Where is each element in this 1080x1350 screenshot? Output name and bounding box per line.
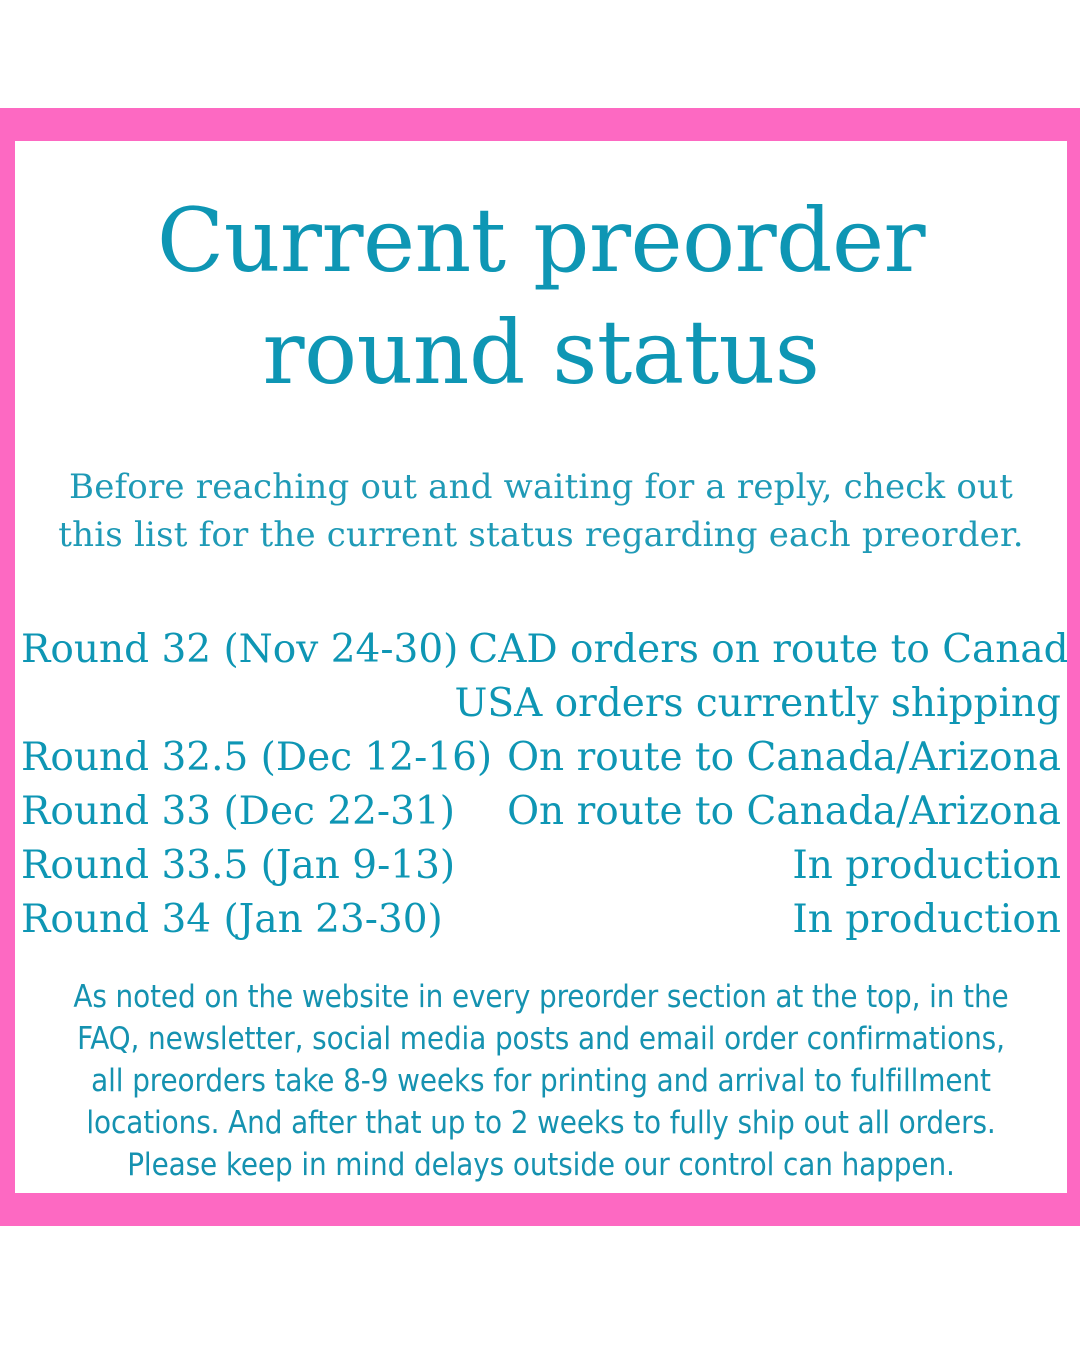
content-card: Current preorder round status Before rea… (15, 141, 1067, 1193)
round-label: Round 32 (Nov 24-30) (21, 623, 458, 677)
round-status: On route to Canada/Arizona (455, 785, 1061, 839)
round-status: In production (455, 839, 1061, 893)
footnote-line-4: locations. And after that up to 2 weeks … (27, 1102, 1055, 1144)
page-title: Current preorder round status (15, 185, 1067, 409)
page-subtitle-line-1: Before reaching out and waiting for a re… (15, 463, 1067, 511)
list-item: Round 34 (Jan 23-30) In production (21, 893, 1061, 947)
footnote-line-3: all preorders take 8-9 weeks for printin… (27, 1060, 1055, 1102)
round-label: Round 34 (Jan 23-30) (21, 893, 443, 947)
rounds-status-list: Round 32 (Nov 24-30) CAD orders on route… (21, 623, 1061, 947)
page-subtitle: Before reaching out and waiting for a re… (15, 463, 1067, 559)
round-status: In production (443, 893, 1061, 947)
footnote-line-5: Please keep in mind delays outside our c… (27, 1144, 1055, 1186)
footnote-disclaimer: As noted on the website in every preorde… (27, 976, 1055, 1186)
round-status-extra: USA orders currently shipping (21, 677, 1061, 731)
footnote-line-1: As noted on the website in every preorde… (27, 976, 1055, 1018)
round-label: Round 33 (Dec 22-31) (21, 785, 455, 839)
preorder-status-poster: Current preorder round status Before rea… (0, 0, 1080, 1350)
list-item: Round 33.5 (Jan 9-13) In production (21, 839, 1061, 893)
round-status: On route to Canada/Arizona (492, 731, 1061, 785)
footnote-line-2: FAQ, newsletter, social media posts and … (27, 1018, 1055, 1060)
list-item: Round 33 (Dec 22-31) On route to Canada/… (21, 785, 1061, 839)
page-title-line-2: round status (15, 297, 1067, 409)
round-label: Round 32.5 (Dec 12-16) (21, 731, 492, 785)
round-status: CAD orders on route to Canada (458, 623, 1067, 677)
list-item: Round 32.5 (Dec 12-16) On route to Canad… (21, 731, 1061, 785)
round-label: Round 33.5 (Jan 9-13) (21, 839, 455, 893)
page-title-line-1: Current preorder (15, 185, 1067, 297)
list-item: Round 32 (Nov 24-30) CAD orders on route… (21, 623, 1061, 677)
page-subtitle-line-2: this list for the current status regardi… (15, 511, 1067, 559)
